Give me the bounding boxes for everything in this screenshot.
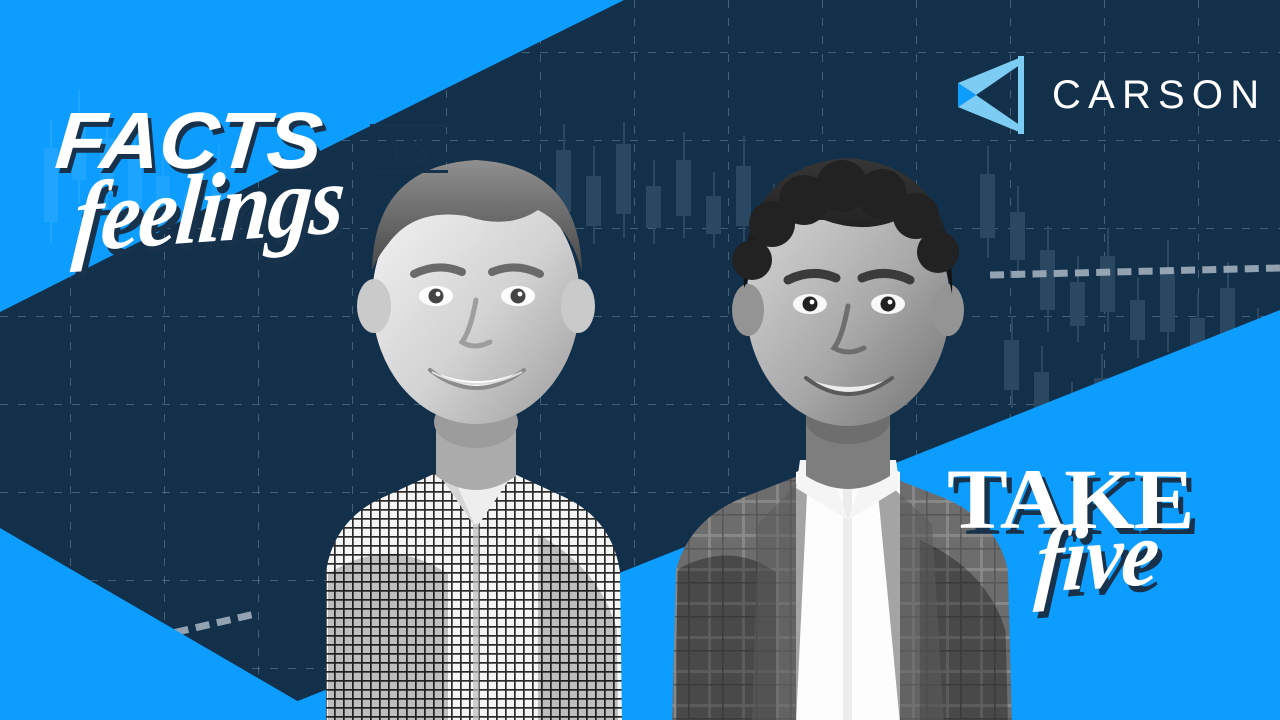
segment-title-lockup: TAKE five: [948, 456, 1248, 626]
segment-title-five: five: [1033, 507, 1162, 609]
podcast-cover-art: CARSON: [0, 0, 1280, 720]
show-title-feelings: feelings: [70, 151, 347, 269]
host-right-portrait: [600, 120, 1040, 720]
carson-wordmark: CARSON: [1052, 75, 1266, 115]
show-title-vs: VS: [370, 127, 448, 170]
vs-rule-bottom: [370, 170, 448, 173]
show-title-vs-block: VS: [370, 124, 448, 173]
show-title-lockup: FACTS VS feelings: [52, 104, 452, 254]
